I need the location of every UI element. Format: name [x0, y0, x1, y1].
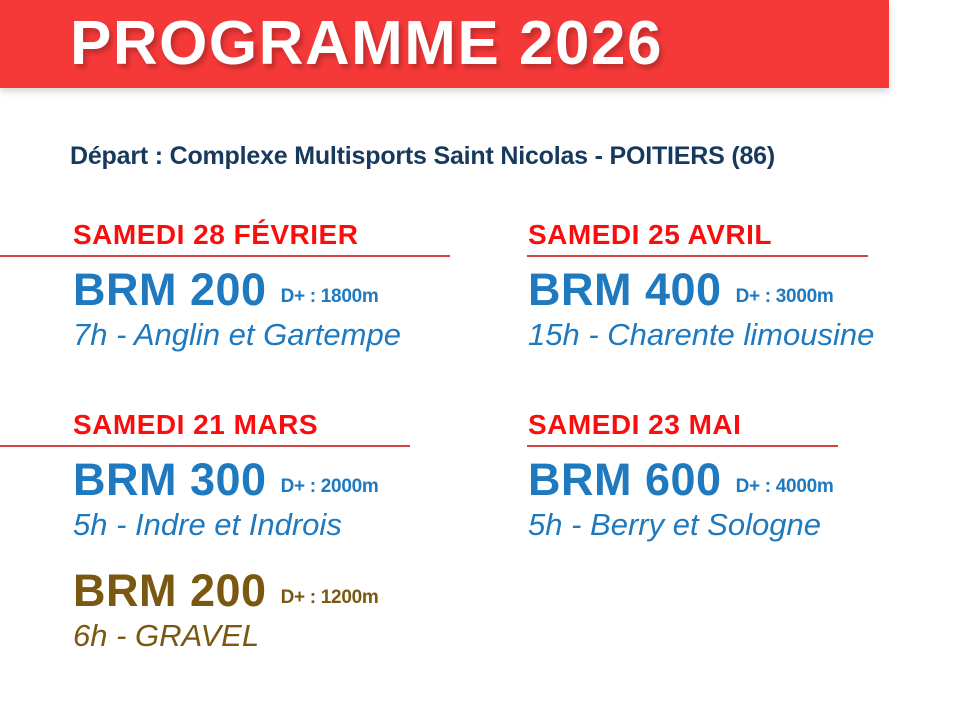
date-underline-rule	[527, 255, 868, 257]
page-title: PROGRAMME 2026	[70, 7, 663, 81]
event-elevation: D+ : 1200m	[281, 587, 379, 609]
event-body: BRM 400 D+ : 3000m 15h - Charente limous…	[500, 265, 973, 354]
date-underline-rule	[0, 255, 450, 257]
event-date: SAMEDI 28 FÉVRIER	[0, 218, 500, 252]
event-detail: 5h - Indre et Indrois	[73, 506, 500, 544]
event-title-line: BRM 400 D+ : 3000m	[528, 265, 973, 315]
event-body: BRM 200 D+ : 1200m 6h - GRAVEL	[0, 566, 500, 655]
event-card-gravel[interactable]: BRM 200 D+ : 1200m 6h - GRAVEL	[0, 566, 500, 655]
event-name: BRM 200	[73, 265, 267, 315]
header-banner: PROGRAMME 2026	[0, 0, 889, 88]
event-elevation: D+ : 1800m	[281, 286, 379, 308]
program-column-right: SAMEDI 25 AVRIL BRM 400 D+ : 3000m 15h -…	[500, 218, 973, 544]
event-name: BRM 200	[73, 566, 267, 616]
event-title-line: BRM 200 D+ : 1800m	[73, 265, 500, 315]
event-card[interactable]: SAMEDI 28 FÉVRIER BRM 200 D+ : 1800m 7h …	[0, 218, 500, 354]
departure-location-text: Départ : Complexe Multisports Saint Nico…	[70, 142, 775, 171]
event-elevation: D+ : 3000m	[736, 286, 834, 308]
event-detail: 5h - Berry et Sologne	[528, 506, 973, 544]
event-card[interactable]: SAMEDI 25 AVRIL BRM 400 D+ : 3000m 15h -…	[500, 218, 973, 354]
event-elevation: D+ : 2000m	[281, 476, 379, 498]
event-detail: 6h - GRAVEL	[73, 617, 500, 655]
event-name: BRM 600	[528, 455, 722, 505]
event-body: BRM 300 D+ : 2000m 5h - Indre et Indrois	[0, 455, 500, 544]
event-body: BRM 600 D+ : 4000m 5h - Berry et Sologne	[500, 455, 973, 544]
date-underline-rule	[527, 445, 838, 447]
date-underline-rule	[0, 445, 410, 447]
event-title-line: BRM 200 D+ : 1200m	[73, 566, 500, 616]
event-card[interactable]: SAMEDI 21 MARS BRM 300 D+ : 2000m 5h - I…	[0, 408, 500, 544]
event-title-line: BRM 600 D+ : 4000m	[528, 455, 973, 505]
event-elevation: D+ : 4000m	[736, 476, 834, 498]
event-name: BRM 300	[73, 455, 267, 505]
event-body: BRM 200 D+ : 1800m 7h - Anglin et Gartem…	[0, 265, 500, 354]
event-title-line: BRM 300 D+ : 2000m	[73, 455, 500, 505]
event-date: SAMEDI 23 MAI	[500, 408, 973, 442]
event-name: BRM 400	[528, 265, 722, 315]
event-card[interactable]: SAMEDI 23 MAI BRM 600 D+ : 4000m 5h - Be…	[500, 408, 973, 544]
event-date: SAMEDI 25 AVRIL	[500, 218, 973, 252]
event-date: SAMEDI 21 MARS	[0, 408, 500, 442]
event-detail: 15h - Charente limousine	[528, 316, 973, 354]
event-detail: 7h - Anglin et Gartempe	[73, 316, 500, 354]
program-column-left: SAMEDI 28 FÉVRIER BRM 200 D+ : 1800m 7h …	[0, 218, 500, 655]
